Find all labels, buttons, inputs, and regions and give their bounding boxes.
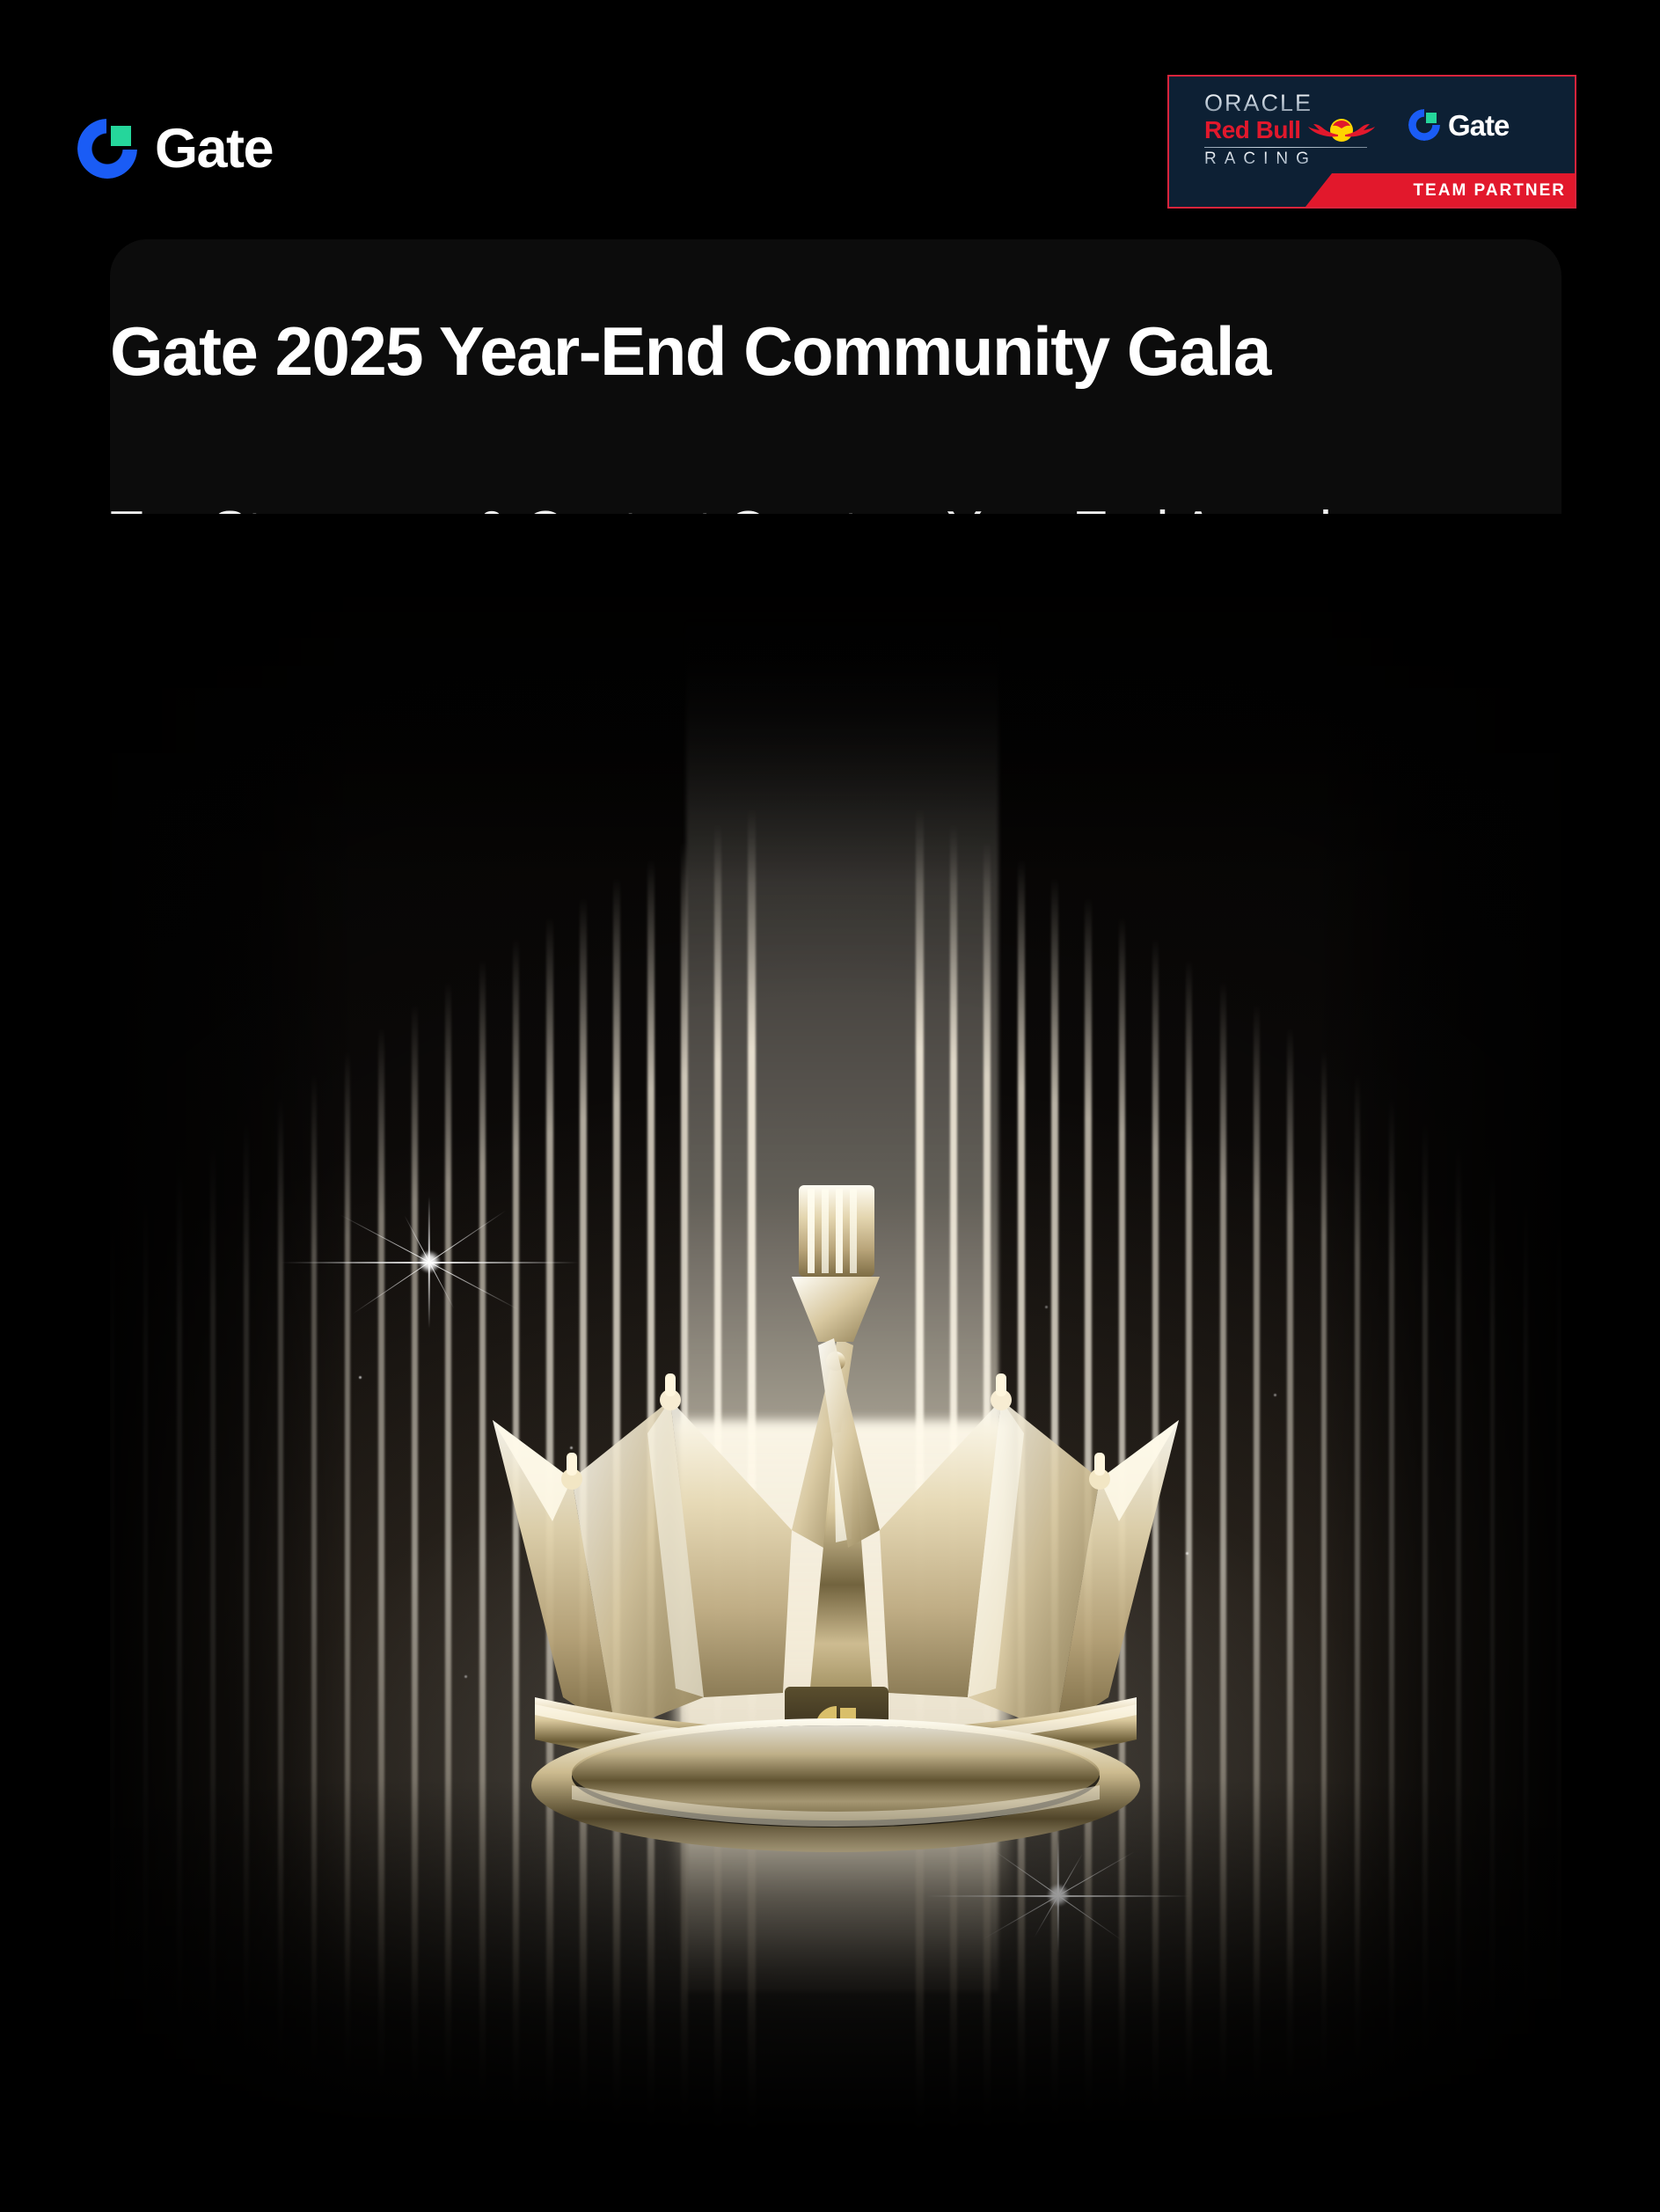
page-root: Gate ORACLE Red Bull bbox=[0, 0, 1660, 2212]
oracle-red-bull-racing-partner-badge[interactable]: ORACLE Red Bull RACING bbox=[1167, 75, 1576, 209]
badge-gate-logo: Gate bbox=[1408, 109, 1509, 141]
badge-divider bbox=[1204, 147, 1367, 148]
team-partner-label: TEAM PARTNER bbox=[1413, 182, 1566, 199]
hero-image bbox=[110, 514, 1561, 2157]
racing-wordmark: RACING bbox=[1204, 150, 1367, 169]
badge-gate-wordmark: Gate bbox=[1448, 111, 1509, 140]
red-bull-charging-bulls-icon bbox=[1306, 117, 1375, 143]
page-header: Gate ORACLE Red Bull bbox=[0, 0, 1660, 238]
gate-brand-logo[interactable]: Gate bbox=[77, 119, 273, 179]
red-bull-wordmark: Red Bull bbox=[1204, 118, 1301, 143]
page-title: Gate 2025 Year-End Community Gala bbox=[110, 239, 1495, 398]
oracle-wordmark: ORACLE bbox=[1204, 91, 1367, 115]
gate-wordmark: Gate bbox=[155, 121, 273, 177]
red-bull-racing-lockup: ORACLE Red Bull RACING bbox=[1204, 91, 1367, 169]
event-card: Gate 2025 Year-End Community Gala Top St… bbox=[110, 239, 1561, 2157]
hero-vignette bbox=[110, 514, 1561, 2157]
gate-logo-icon bbox=[77, 119, 137, 179]
team-partner-ribbon: TEAM PARTNER bbox=[1305, 173, 1576, 207]
gate-logo-icon bbox=[1408, 109, 1440, 141]
